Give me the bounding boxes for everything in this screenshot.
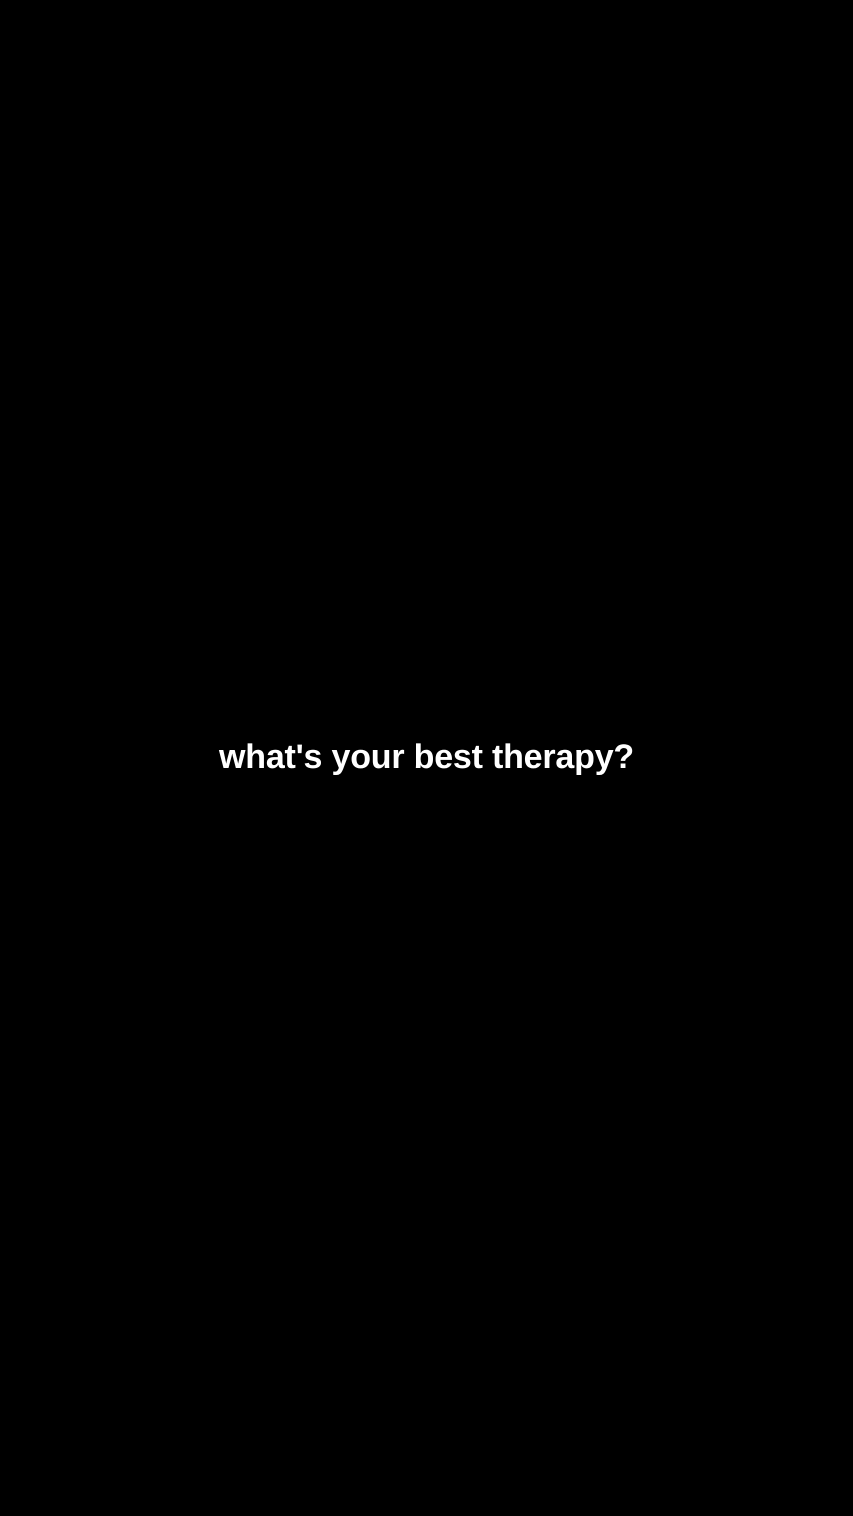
caption-text: what's your best therapy? xyxy=(219,737,634,777)
caption-card-screen: what's your best therapy? xyxy=(0,0,853,1516)
caption-block: what's your best therapy? xyxy=(0,724,853,790)
